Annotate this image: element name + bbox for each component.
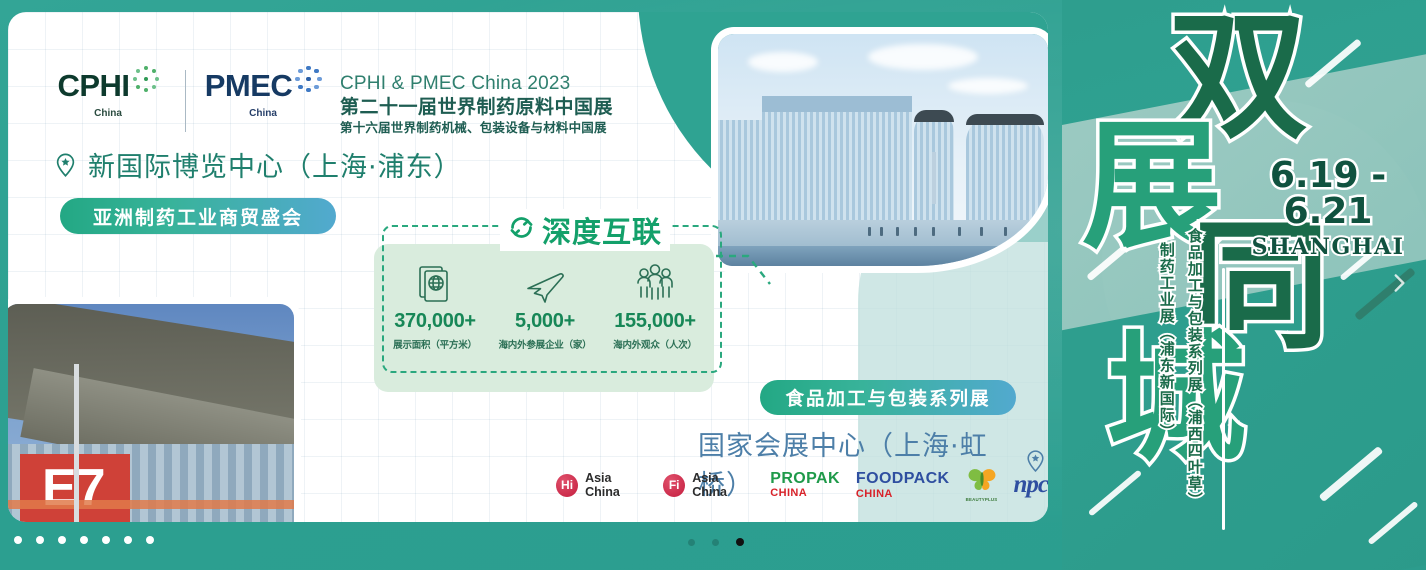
logo-divider <box>185 70 186 132</box>
vertical-divider-line <box>1222 268 1225 530</box>
hi-label: Asia China <box>585 471 647 499</box>
event-title-en: CPHI & PMEC China 2023 <box>340 72 613 95</box>
dot[interactable] <box>102 536 110 544</box>
pagination-dot-active[interactable] <box>736 538 744 546</box>
pmec-wordmark: PMEC <box>205 70 293 101</box>
stats-title-label: 深度互联 <box>542 209 662 251</box>
pagination-dot[interactable] <box>688 539 695 546</box>
sponsor-logo-row: Hi Asia China Fi Asia China PROPAK CHINA… <box>556 468 1048 502</box>
stat-label: 海内外参展企业（家） <box>490 337 600 351</box>
stat-value: 370,000+ <box>380 310 490 333</box>
people-group-icon <box>600 260 710 308</box>
dot[interactable] <box>36 536 44 544</box>
cphi-logo: CPHI China <box>53 70 163 119</box>
airplane-icon <box>490 260 600 308</box>
stat-label: 海内外观众（人次） <box>600 337 710 351</box>
dot[interactable] <box>146 536 154 544</box>
dot[interactable] <box>14 536 22 544</box>
beautyplus-logo[interactable]: BEAUTYPLUS <box>966 468 998 502</box>
slide-card: E7 CPHI <box>8 12 1048 522</box>
fi-asia-china-logo[interactable]: Fi Asia China <box>663 471 754 499</box>
pill-asia-pharma-expo[interactable]: 亚洲制药工业商贸盛会 <box>60 198 336 234</box>
dot[interactable] <box>80 536 88 544</box>
venue-primary: 新国际博览中心（上海·浦东） <box>52 145 462 184</box>
venue-primary-label: 新国际博览中心（上海·浦东） <box>88 145 462 184</box>
exhibition-center-pudong-photo <box>718 34 1048 266</box>
foodpack-line1: FOODPACK <box>856 470 950 488</box>
carousel-banner: E7 CPHI <box>0 0 1426 570</box>
propak-china-logo[interactable]: PROPAK CHINA <box>770 471 840 499</box>
vertical-text-food: 食品加工与包装系列展（浦西四叶草） <box>1186 228 1202 509</box>
stats-connector-line <box>714 250 774 290</box>
pill-food-packaging-expo[interactable]: 食品加工与包装系列展 <box>760 380 1016 415</box>
pmec-dot-ring-icon <box>295 66 321 92</box>
brand-header: CPHI China <box>53 70 613 137</box>
event-title-cn-secondary: 第十六届世界制药机械、包装设备与材料中国展 <box>340 120 613 137</box>
pmec-logo: PMEC China <box>208 70 318 119</box>
stat-item: 155,000+ 海内外观众（人次） <box>600 260 710 351</box>
fi-label: Asia China <box>692 471 754 499</box>
passport-globe-icon <box>380 260 490 308</box>
stats-list: 370,000+ 展示面积（平方米） 5,000+ 海内外参展企业（家） <box>380 260 710 351</box>
event-date-block: 6.19 - 6.21 SHANGHAI <box>1230 158 1426 260</box>
dot[interactable] <box>124 536 132 544</box>
event-city: SHANGHAI <box>1230 234 1426 260</box>
beautyplus-caption: BEAUTYPLUS <box>966 497 998 502</box>
hero-char-4: 城 <box>1106 330 1246 470</box>
cphi-dot-ring-icon <box>133 66 159 92</box>
foodpack-china-logo[interactable]: FOODPACK CHINA <box>856 470 950 500</box>
exhibition-hall-e7-photo: E7 <box>8 304 294 522</box>
cphi-sub: China <box>94 108 122 119</box>
sync-circle-icon <box>508 214 535 246</box>
chevron-left-icon[interactable] <box>12 270 38 296</box>
stats-title: 深度互联 <box>500 209 670 251</box>
foodpack-line2: CHINA <box>856 488 950 500</box>
location-pin-icon <box>52 151 79 178</box>
pmec-sub: China <box>249 108 277 119</box>
hi-mark: Hi <box>556 474 578 497</box>
dot[interactable] <box>58 536 66 544</box>
vertical-text-pharma: 制药工业展（浦东新国际） <box>1158 242 1174 440</box>
propak-line1: PROPAK <box>770 471 840 487</box>
stat-label: 展示面积（平方米） <box>380 337 490 351</box>
event-title-block: CPHI & PMEC China 2023 第二十一届世界制药原料中国展 第十… <box>340 70 613 137</box>
stat-item: 5,000+ 海内外参展企业（家） <box>490 260 600 351</box>
stat-value: 155,000+ <box>600 310 710 333</box>
stat-item: 370,000+ 展示面积（平方米） <box>380 260 490 351</box>
npc-logo[interactable]: npc <box>1014 471 1049 499</box>
thumbnail-dots[interactable] <box>14 536 154 544</box>
butterfly-icon <box>966 479 998 496</box>
right-promo-panel: 双 展 同 城 6.19 - 6.21 SHANGHAI 制药工业展（浦东新国际… <box>1062 0 1426 570</box>
event-title-cn-primary: 第二十一届世界制药原料中国展 <box>340 95 613 120</box>
propak-line2: CHINA <box>770 488 840 499</box>
hi-asia-china-logo[interactable]: Hi Asia China <box>556 471 647 499</box>
carousel-pagination[interactable] <box>688 538 744 546</box>
stat-value: 5,000+ <box>490 310 600 333</box>
fi-mark: Fi <box>663 474 685 497</box>
event-date: 6.19 - 6.21 <box>1230 158 1426 230</box>
chevron-right-icon[interactable] <box>1386 270 1412 296</box>
cphi-wordmark: CPHI <box>57 70 129 101</box>
pagination-dot[interactable] <box>712 539 719 546</box>
